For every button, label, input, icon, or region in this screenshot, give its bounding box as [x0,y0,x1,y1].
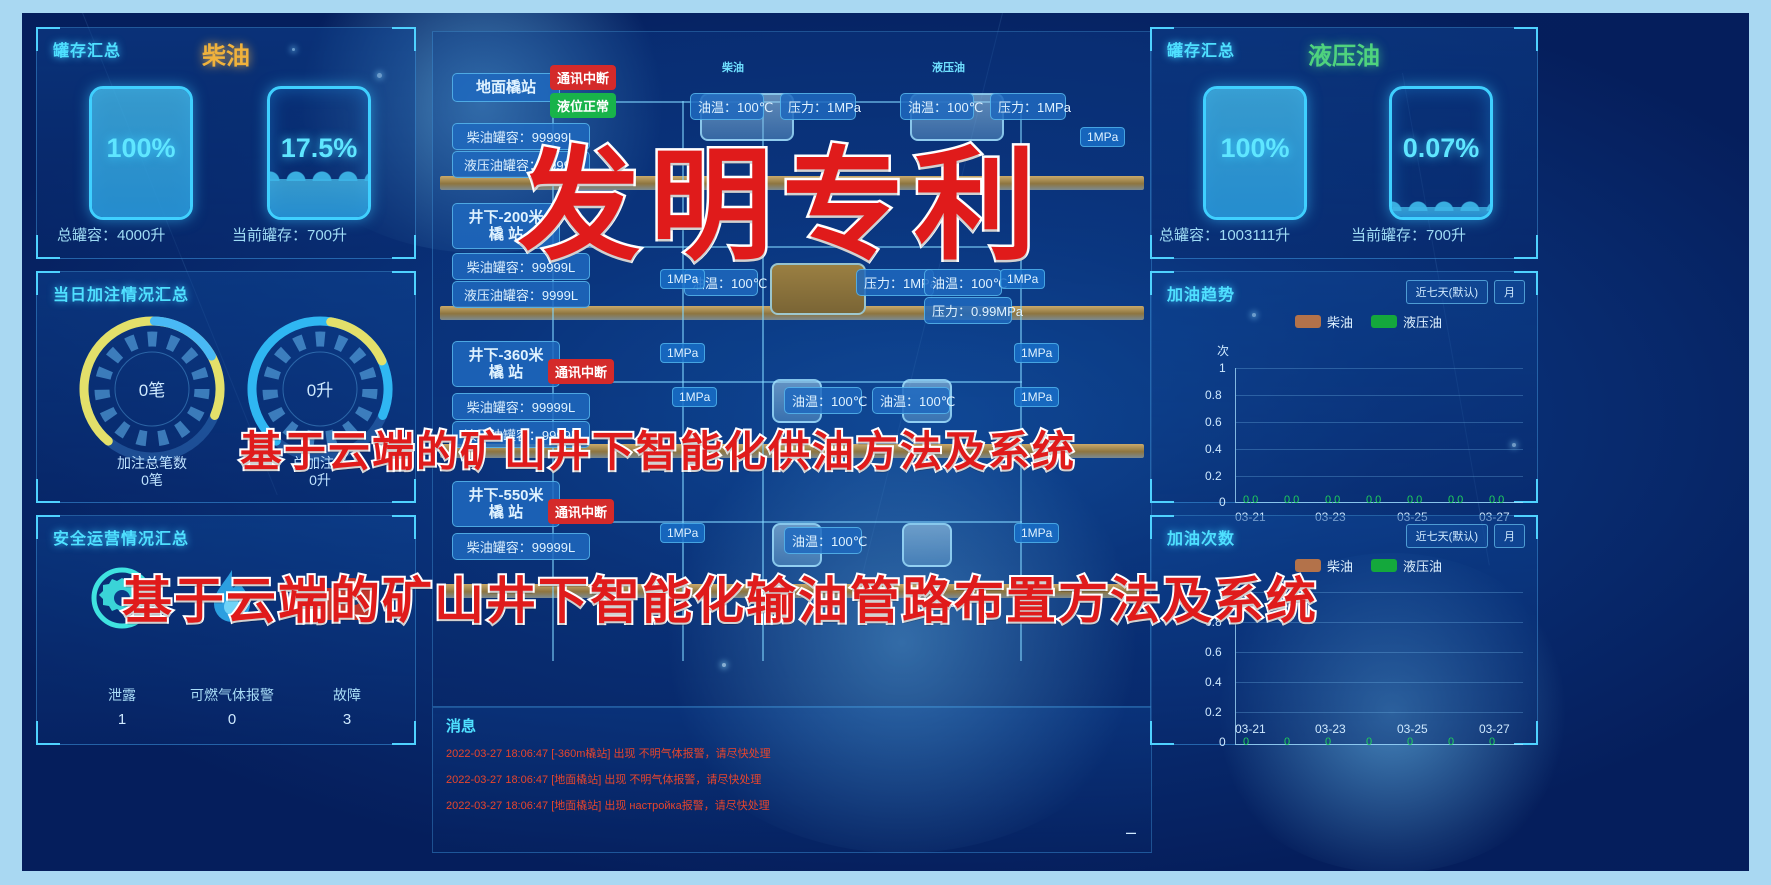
station-label-360m[interactable]: 井下-360米 橇 站 [452,341,560,387]
y-tick: 0.4 [1205,442,1222,456]
range-button-month[interactable]: 月 [1494,524,1525,548]
tank-total-capacity: 100% [1203,86,1307,220]
count-range-buttons: 近七天(默认) 月 [1406,524,1525,548]
tank-caption: 当前罐存：700升 [1351,224,1466,245]
data-label: 0.0 [1284,494,1299,506]
station-label-line2: 橇 站 [489,364,523,381]
y-tick: 0.8 [1205,388,1222,402]
tank-capacity-diesel: 柴油罐容：99999L [452,533,590,560]
safety-value: 3 [292,711,402,728]
tank-percent: 100% [92,133,190,164]
legend-swatch-diesel [1295,315,1321,328]
safety-value: 1 [67,711,177,728]
message-row: 2022-03-27 18:06:47 [-360m橇站] 出现 不明气体报警，… [446,745,771,761]
data-label: 0 [1366,736,1372,748]
safety-label: 泄露 [67,685,177,705]
safety-value: 0 [177,711,287,728]
tank-current-stock: 17.5% [267,86,371,220]
data-label: 0.0 [1407,494,1422,506]
tank-current-stock: 0.07% [1389,86,1493,220]
legend-label-hydraulic: 液压油 [1403,312,1442,331]
data-label: 0 [1448,736,1454,748]
message-panel: 消息 2022-03-27 18:06:47 [-360m橇站] 出现 不明气体… [432,707,1152,853]
right-tank-panel: 罐存汇总 液压油 100% 总罐容：1003111升 0.07% 当前罐存：70… [1150,27,1538,259]
gauge-refuel-count: 0笔 [77,314,227,464]
legend-label-diesel: 柴油 [1327,312,1353,331]
legend-item-hydraulic[interactable]: 液压油 [1371,556,1442,575]
y-tick: 0.6 [1205,415,1222,429]
pressure-tag: 1MPa [660,523,705,543]
status-badge-comm: 通讯中断 [548,359,614,384]
data-label: 0.0 [1448,494,1463,506]
panel-title: 当日加注情况汇总 [53,281,189,305]
pressure-tag: 1MPa [1014,523,1059,543]
data-label: 0.0 [1325,494,1340,506]
left-tank-panel: 罐存汇总 柴油 100% 总罐容：4000升 17.5% 当前罐存：700升 [36,27,416,259]
watermark-title: 发明专利 [518,107,1046,284]
status-badge-comm: 通讯中断 [550,65,616,90]
tank-capacity-diesel: 柴油罐容：99999L [452,393,590,420]
legend-swatch-hydraulic [1371,559,1397,572]
range-button-month[interactable]: 月 [1494,280,1525,304]
tank-total-capacity: 100% [89,86,193,220]
vessel-temp-diesel: 油温：100℃ [784,387,862,414]
station-label-line1: 井下-550米 [468,487,543,504]
legend-swatch-hydraulic [1371,315,1397,328]
data-label: 0.0 [1243,494,1258,506]
minus-icon[interactable]: – [1126,822,1136,843]
message-row: 2022-03-27 18:06:47 [地面橇站] 出现 不明气体报警，请尽快… [446,771,761,787]
message-row: 2022-03-27 18:06:47 [地面橇站] 出现 настройка报… [446,797,770,813]
refuel-trend-panel: 加油趋势 近七天(默认) 月 柴油 液压油 次 1 0.8 0.6 0.4 0.… [1150,271,1538,503]
tank-capacity-hydraulic: 液压油罐容：9999L [452,281,590,308]
gauge-value: 0笔 [77,376,227,401]
panel-title: 加油次数 [1167,525,1235,549]
range-button-week[interactable]: 近七天(默认) [1406,280,1488,304]
y-axis-label: 次 [1217,342,1229,359]
panel-title: 加油趋势 [1167,281,1235,305]
x-axis [1235,744,1523,745]
x-tick: 03-21 [1235,722,1266,736]
panel-title: 安全运营情况汇总 [53,525,189,549]
y-tick: 1 [1219,361,1226,375]
y-tick: 0 [1219,735,1226,749]
watermark-line2: 基于云端的矿山井下智能化输油管路布置方法及系统 [122,561,1318,633]
tank-caption: 当前罐存：700升 [232,224,347,245]
data-label: 0 [1407,736,1413,748]
tank-percent: 100% [1206,133,1304,164]
vessel-title-diesel: 柴油 [722,59,744,75]
pressure-tag: 1MPa [1014,387,1059,407]
data-label: 0 [1243,736,1249,748]
data-label: 0.0 [1489,494,1504,506]
x-tick: 03-25 [1397,722,1428,736]
tank-percent: 0.07% [1392,133,1490,164]
tank-caption: 总罐容：1003111升 [1159,224,1290,245]
legend-label-hydraulic: 液压油 [1403,556,1442,575]
safety-label: 故障 [292,685,402,705]
y-tick: 0.2 [1205,469,1222,483]
gauge-caption: 加注总笔数 0笔 [77,455,227,489]
vessel-title-hydraulic: 液压油 [932,59,965,75]
y-axis [1235,368,1236,502]
pressure-tag: 1MPa [672,387,717,407]
product-label-hydraulic: 液压油 [1151,36,1537,71]
data-label: 0 [1325,736,1331,748]
trend-range-buttons: 近七天(默认) 月 [1406,280,1525,304]
station-label-line2: 橇 站 [489,504,523,521]
gauge-value: 0升 [245,376,395,401]
safety-label: 可燃气体报警 [177,685,287,705]
tank-percent: 17.5% [270,133,368,164]
status-badge-comm: 通讯中断 [548,499,614,524]
legend-item-diesel[interactable]: 柴油 [1295,312,1353,331]
pressure-tag: 1MPa [1080,127,1125,147]
pressure-tag: 1MPa [1014,343,1059,363]
chart-legend: 柴油 液压油 [1295,312,1442,331]
station-label-ground[interactable]: 地面橇站 [452,73,560,102]
data-label: 0 [1284,736,1290,748]
data-label: 0.0 [1366,494,1381,506]
vessel-temp-hydraulic: 油温：100℃ [872,387,950,414]
data-label: 0 [1489,736,1495,748]
watermark-line1: 基于云端的矿山井下智能化供油方法及系统 [240,418,1076,479]
panel-title: 消息 [446,715,476,736]
y-tick: 0.4 [1205,675,1222,689]
y-tick: 0 [1219,495,1226,509]
legend-label-diesel: 柴油 [1327,556,1353,575]
gauge-caption-line2: 0笔 [77,472,227,489]
vessel-pressure-hydraulic: 压力：0.99MPa [924,297,1012,324]
x-tick: 03-23 [1315,722,1346,736]
dashboard-screen: 罐存汇总 柴油 100% 总罐容：4000升 17.5% 当前罐存：700升 当… [22,13,1749,871]
x-tick: 03-27 [1479,722,1510,736]
station-label-550m[interactable]: 井下-550米 橇 站 [452,481,560,527]
gauge-caption-line1: 加注总笔数 [77,455,227,472]
range-button-week[interactable]: 近七天(默认) [1406,524,1488,548]
y-tick: 0.2 [1205,705,1222,719]
product-label-diesel: 柴油 [37,36,415,71]
screenshot-root: 罐存汇总 柴油 100% 总罐容：4000升 17.5% 当前罐存：700升 当… [0,0,1771,885]
y-tick: 0.6 [1205,645,1222,659]
pressure-tag: 1MPa [660,343,705,363]
vessel-temp-diesel: 油温：100℃ [784,527,862,554]
station-label-line1: 井下-360米 [468,347,543,364]
legend-item-hydraulic[interactable]: 液压油 [1371,312,1442,331]
tank-caption: 总罐容：4000升 [57,224,165,245]
